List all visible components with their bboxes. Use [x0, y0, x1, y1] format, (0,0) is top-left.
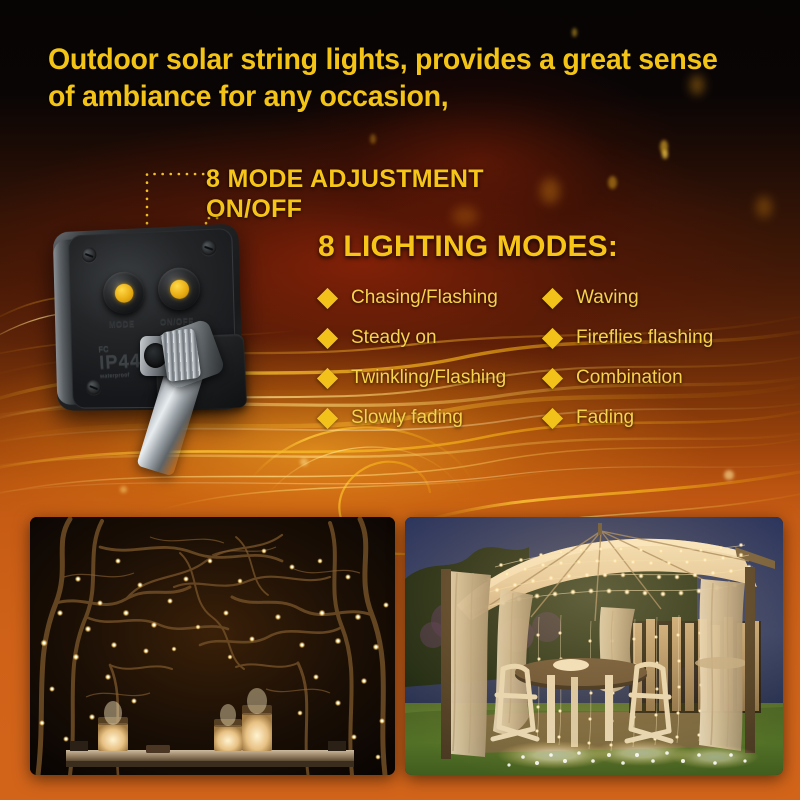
bokeh-speck [662, 150, 668, 159]
bokeh-speck [724, 470, 734, 480]
photo-gazebo-with-string-lights [405, 517, 783, 775]
mode-label: Waving [576, 287, 639, 309]
mode-label: Slowly fading [351, 407, 463, 429]
solar-controller-device: MODE ON/OFF FC IP44 waterproof [44, 218, 294, 468]
lighting-modes-title: 8 LIGHTING MODES: [318, 230, 618, 264]
mode-adjustment-callout: 8 MODE ADJUSTMENT ON/OFF [206, 164, 484, 224]
bokeh-speck [120, 486, 127, 493]
mode-list-item: Fading [545, 398, 713, 438]
diamond-bullet-icon [317, 407, 338, 428]
bokeh-speck [608, 176, 617, 189]
bokeh-speck [370, 134, 376, 144]
mode-list-item: Slowly fading [320, 398, 506, 438]
mode-button[interactable] [103, 271, 145, 314]
mode-label: Fireflies flashing [576, 327, 713, 349]
bokeh-speck [540, 178, 560, 204]
diamond-bullet-icon [542, 327, 563, 348]
mode-label: Chasing/Flashing [351, 287, 498, 309]
screw-top-left [82, 247, 97, 262]
modes-column-1: Chasing/Flashing Steady on Twinkling/Fla… [320, 278, 506, 438]
mode-list-item: Twinkling/Flashing [320, 358, 506, 398]
mode-list-item: Steady on [320, 318, 506, 358]
diamond-bullet-icon [542, 367, 563, 388]
mode-label: Fading [576, 407, 634, 429]
diamond-bullet-icon [542, 287, 563, 308]
mode-label: Twinkling/Flashing [351, 367, 506, 389]
page-title: Outdoor solar string lights, provides a … [48, 41, 732, 115]
bokeh-speck [756, 196, 772, 218]
mode-label: Combination [576, 367, 683, 389]
diamond-bullet-icon [542, 407, 563, 428]
device-connector-collar [161, 328, 202, 382]
diamond-bullet-icon [317, 367, 338, 388]
diamond-bullet-icon [317, 287, 338, 308]
mode-list-item: Chasing/Flashing [320, 278, 506, 318]
photo-branches-with-string-lights [30, 517, 395, 775]
diamond-bullet-icon [317, 327, 338, 348]
device-housing: MODE ON/OFF FC IP44 waterproof [53, 223, 244, 410]
mode-button-label: MODE [109, 319, 135, 329]
screw-top-right [201, 240, 217, 256]
bokeh-speck [572, 28, 577, 37]
callout-line-1: 8 MODE ADJUSTMENT [206, 165, 484, 193]
mode-list-item: Fireflies flashing [545, 318, 713, 358]
device-front-face: MODE ON/OFF FC IP44 waterproof [68, 228, 237, 409]
bokeh-speck [300, 458, 308, 466]
screw-bottom-left [86, 380, 101, 395]
mode-label: Steady on [351, 327, 437, 349]
mode-list-item: Waving [545, 278, 713, 318]
product-feature-poster: Outdoor solar string lights, provides a … [0, 0, 800, 800]
mode-list-item: Combination [545, 358, 713, 398]
modes-column-2: Waving Fireflies flashing Combination Fa… [545, 278, 713, 438]
onoff-button[interactable] [157, 267, 200, 311]
